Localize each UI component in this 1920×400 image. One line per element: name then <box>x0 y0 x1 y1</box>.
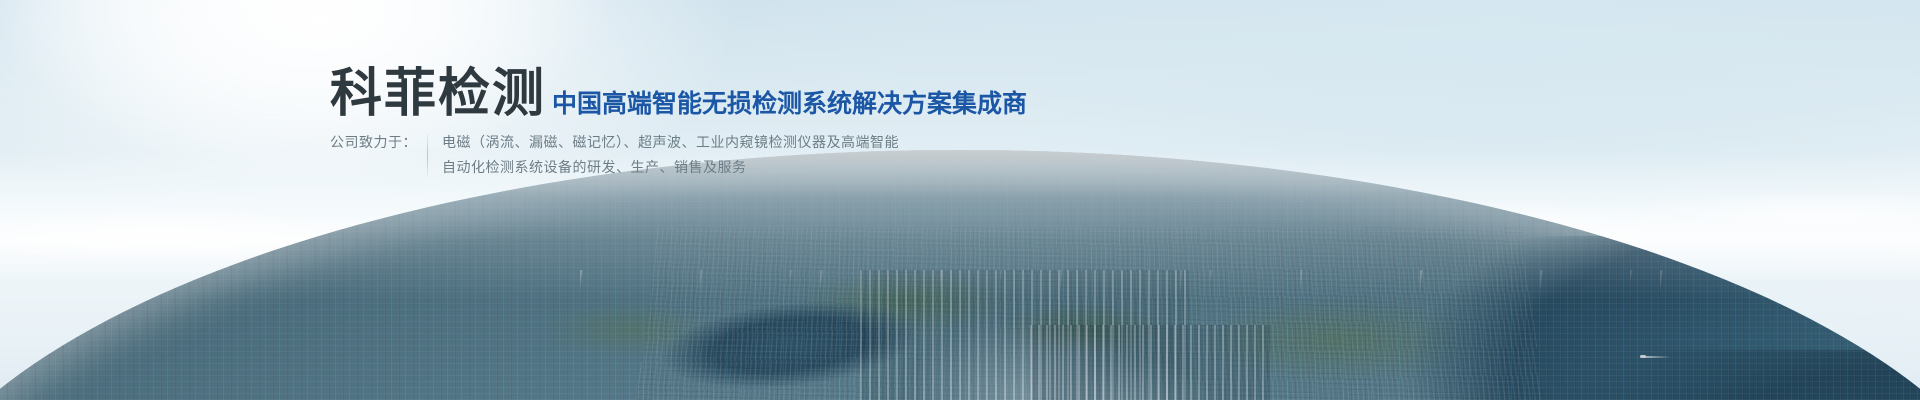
vertical-divider <box>427 134 428 176</box>
brand-name: 科菲检测 <box>330 68 546 120</box>
description-line-1: 电磁（涡流、漏磁、磁记忆）、超声波、工业内窥镜检测仪器及高端智能 <box>442 130 899 155</box>
description-text: 电磁（涡流、漏磁、磁记忆）、超声波、工业内窥镜检测仪器及高端智能 自动化检测系统… <box>442 130 899 180</box>
hero-banner: 科菲检测 中国高端智能无损检测系统解决方案集成商 公司致力于： 电磁（涡流、漏磁… <box>0 0 1920 400</box>
description-line-2: 自动化检测系统设备的研发、生产、销售及服务 <box>442 155 899 180</box>
description-label: 公司致力于： <box>330 130 417 155</box>
brand-slogan: 中国高端智能无损检测系统解决方案集成商 <box>552 92 1027 120</box>
banner-description: 公司致力于： 电磁（涡流、漏磁、磁记忆）、超声波、工业内窥镜检测仪器及高端智能 … <box>330 130 899 180</box>
banner-content: 科菲检测 中国高端智能无损检测系统解决方案集成商 公司致力于： 电磁（涡流、漏磁… <box>0 0 1920 400</box>
banner-heading: 科菲检测 中国高端智能无损检测系统解决方案集成商 <box>330 68 1027 120</box>
